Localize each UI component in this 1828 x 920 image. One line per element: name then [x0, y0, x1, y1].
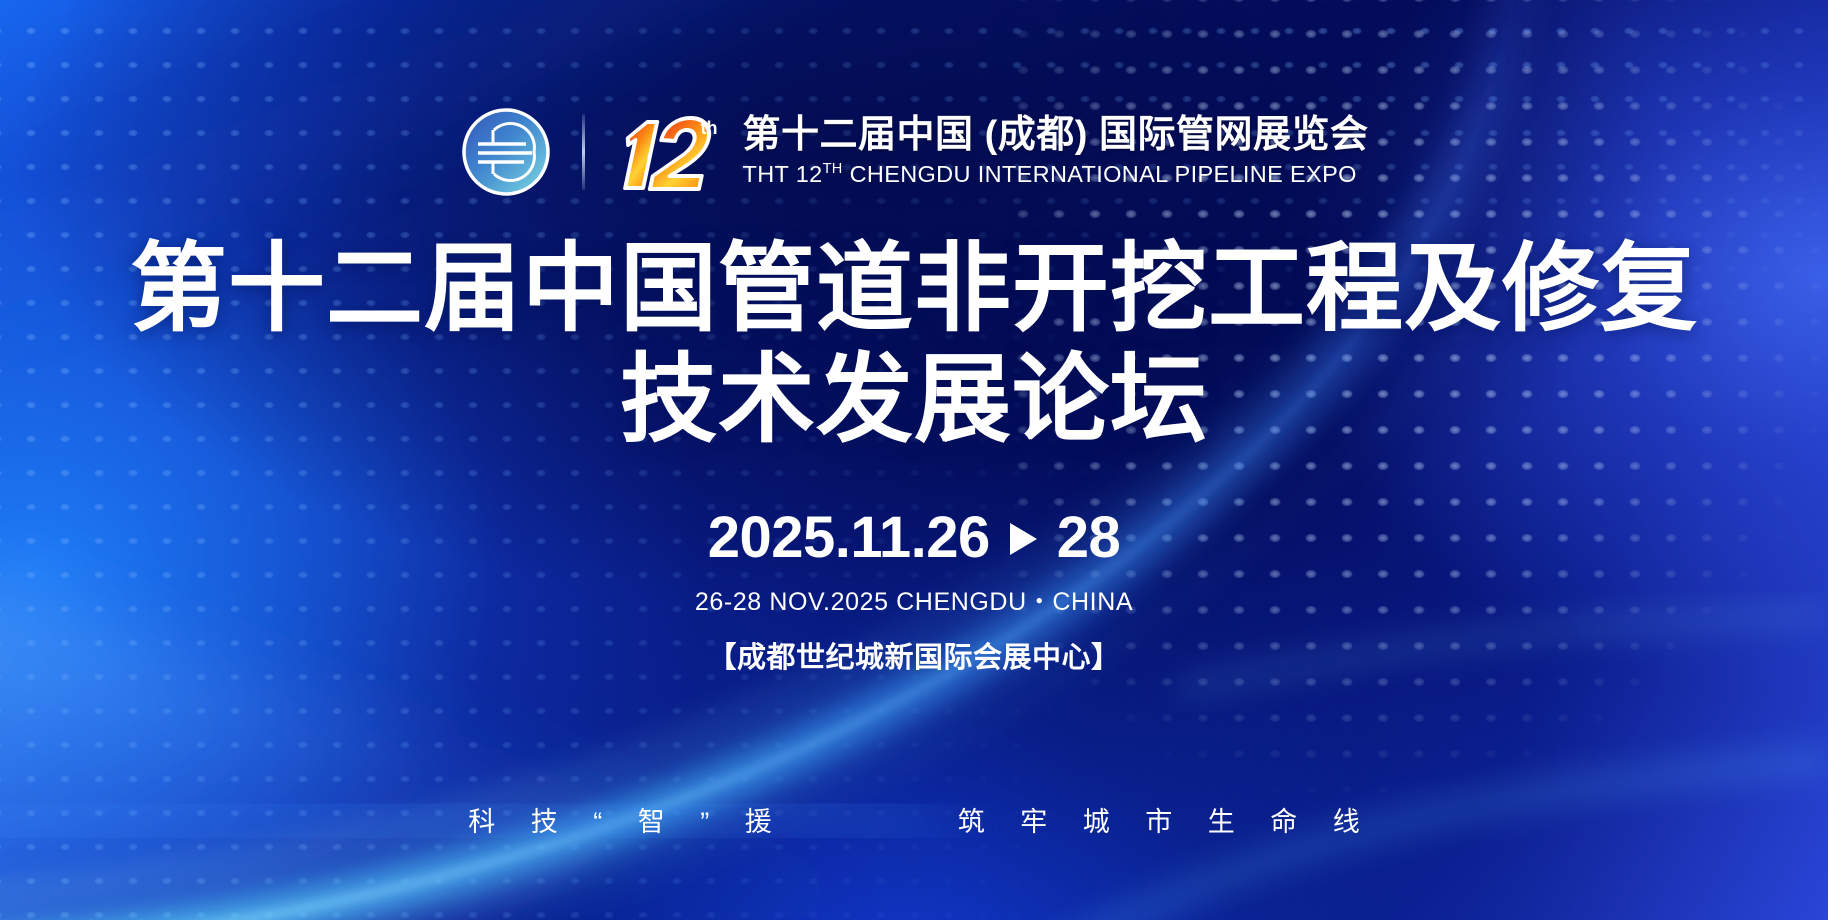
banner-content: th 第十二届中国 (成都) 国际管网展览会 THT 12TH CHENGDU … — [0, 0, 1828, 920]
masthead-title-en: THT 12TH CHENGDU INTERNATIONAL PIPELINE … — [743, 160, 1369, 189]
edition-number-12th-icon: th — [611, 104, 727, 200]
event-date-end: 28 — [1057, 509, 1121, 567]
expo-banner: th 第十二届中国 (成都) 国际管网展览会 THT 12TH CHENGDU … — [0, 0, 1828, 920]
event-venue: 【成都世纪城新国际会展中心】 — [707, 634, 1120, 676]
vertical-divider-icon — [582, 114, 585, 190]
event-slogan: 科 技 “ 智 ” 援 筑 牢 城 市 生 命 线 — [0, 800, 1828, 839]
masthead-text: 第十二届中国 (成都) 国际管网展览会 THT 12TH CHENGDU INT… — [743, 115, 1369, 189]
pipeline-ring-emblem-icon — [460, 106, 552, 198]
masthead-title-en-rest: CHENGDU INTERNATIONAL PIPELINE EXPO — [843, 161, 1357, 187]
event-date-row: 2025.11.26 28 — [708, 509, 1121, 567]
page-title-line-1: 第十二届中国管道非开挖工程及修复 — [130, 234, 1698, 345]
event-date-english: 26-28 NOV.2025 CHENGDU・CHINA — [695, 582, 1133, 618]
masthead-title-cn: 第十二届中国 (成都) 国际管网展览会 — [743, 115, 1369, 156]
masthead-title-en-prefix: THT 12 — [743, 161, 823, 187]
play-triangle-icon — [1010, 523, 1037, 555]
svg-text:th: th — [700, 118, 717, 138]
page-title: 第十二届中国管道非开挖工程及修复 技术发展论坛 — [130, 234, 1698, 455]
event-date-start: 2025.11.26 — [708, 509, 990, 567]
masthead: th 第十二届中国 (成都) 国际管网展览会 THT 12TH CHENGDU … — [460, 104, 1369, 200]
page-title-line-2: 技术发展论坛 — [130, 345, 1698, 456]
masthead-title-en-ordinal: TH — [823, 161, 843, 177]
